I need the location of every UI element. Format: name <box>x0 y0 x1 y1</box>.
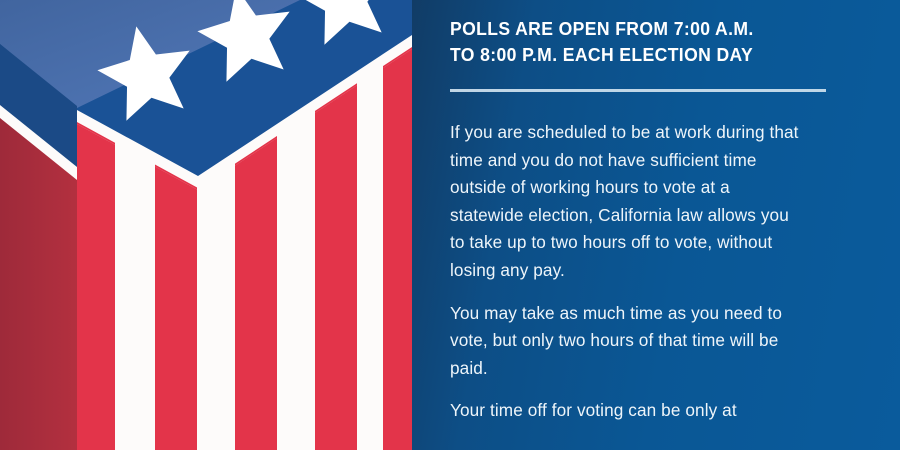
body-copy: If you are scheduled to be at work durin… <box>450 119 860 425</box>
american-flag-icon <box>0 0 412 450</box>
headline-line-2: TO 8:00 P.M. EACH ELECTION DAY <box>450 42 840 68</box>
paragraph-1: If you are scheduled to be at work durin… <box>450 119 800 285</box>
paragraph-2: You may take as much time as you need to… <box>450 300 800 383</box>
text-panel: POLLS ARE OPEN FROM 7:00 A.M. TO 8:00 P.… <box>412 0 900 450</box>
paragraph-3: Your time off for voting can be only at <box>450 397 800 425</box>
flag-graphic-panel <box>0 0 412 450</box>
divider <box>450 89 826 92</box>
headline-line-1: POLLS ARE OPEN FROM 7:00 A.M. <box>450 16 840 42</box>
voting-rights-poster: POLLS ARE OPEN FROM 7:00 A.M. TO 8:00 P.… <box>0 0 900 450</box>
page-title: POLLS ARE OPEN FROM 7:00 A.M. TO 8:00 P.… <box>450 16 840 68</box>
